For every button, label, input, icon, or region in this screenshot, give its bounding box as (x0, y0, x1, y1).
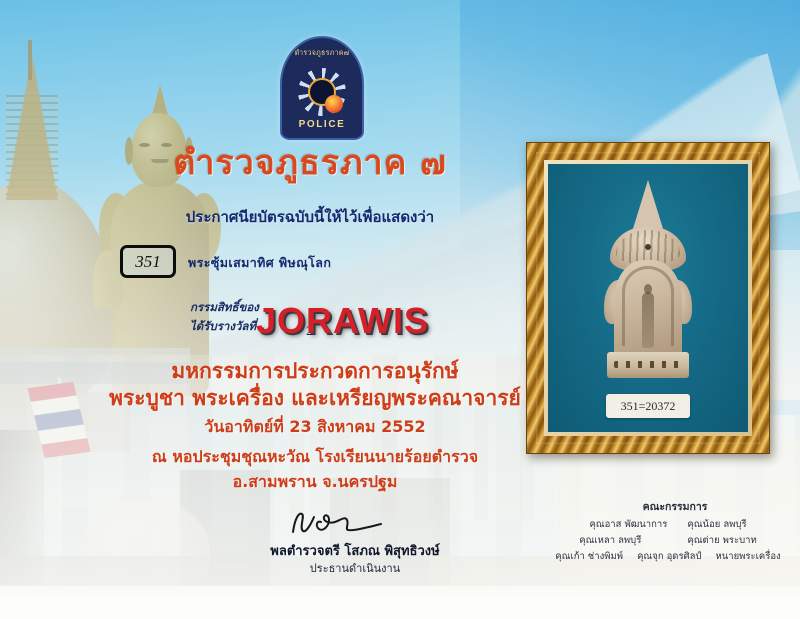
amulet-base-detail (614, 361, 682, 368)
event-date: วันอาทิตย์ที่ 23 สิงหาคม 2552 (110, 415, 520, 440)
amulet-name-label: พระซุ้มเสมาทิศ พิษณุโลก (188, 253, 331, 273)
signatory-role: ประธานดำเนินงาน (210, 559, 500, 577)
committee-name: หนายพระเครื่อง (716, 551, 781, 562)
committee-name: คุณเก้า ช่างพิมพ์ (555, 551, 623, 562)
committee-row: คุณเหลา ลพบุรี คุณต่าย พระบาท (538, 533, 798, 548)
certificate-subtitle: ประกาศนียบัตรฉบับนี้ให้ไว้เพื่อแสดงว่า (120, 205, 500, 229)
signatory-name: พลตำรวจตรี โสภณ พิสุทธิวงษ์ (210, 540, 500, 561)
amulet-center-dot (645, 244, 651, 250)
amulet-buddha-figure (642, 292, 654, 348)
frame-liner: 351=20372 (544, 160, 752, 436)
jorawis-watermark: JORAWIS (256, 300, 429, 342)
certificate-root: ตำรวจภูธรภาค๗ POLICE ตำรวจภูธรภาค ๗ ประก… (0, 0, 800, 619)
specimen-photo-frame: 351=20372 (526, 142, 770, 454)
event-title-line2: พระบูชา พระเครื่อง และเหรียญพระคณาจารย์ (92, 382, 538, 415)
badge-inner-ring (308, 78, 336, 106)
event-location: อ.สามพราน จ.นครปฐม (120, 470, 510, 495)
badge-crest-icon (325, 95, 343, 113)
badge-star-emblem (298, 68, 346, 116)
specimen-id-label: 351=20372 (606, 394, 690, 418)
specimen-photo: 351=20372 (548, 164, 748, 432)
signature-mark (285, 508, 395, 538)
committee-name: คุณเหลา ลพบุรี (579, 535, 641, 546)
committee-row: คุณอาส พัฒนาการ คุณน้อย ลพบุรี (538, 517, 798, 532)
badge-arc-text: ตำรวจภูธรภาค๗ (282, 48, 362, 60)
committee-row: คุณเก้า ช่างพิมพ์ คุณจุก อุดรศิลป์ หนายพ… (538, 549, 798, 564)
badge-police-label: POLICE (282, 119, 362, 130)
committee-name: คุณอาส พัฒนาการ (589, 519, 667, 530)
committee-name: คุณจุก อุดรศิลป์ (637, 551, 701, 562)
certificate-title: ตำรวจภูธรภาค ๗ (120, 135, 500, 189)
award-label: ได้รับรางวัลที่ (190, 318, 256, 336)
committee-name: คุณต่าย พระบาท (687, 535, 756, 546)
committee-title: คณะกรรมการ (600, 498, 750, 515)
event-venue: ณ หอประชุมชุณหะวัณ โรงเรียนนายร้อยตำรวจ (100, 445, 530, 470)
amulet-object (606, 180, 690, 380)
police-badge: ตำรวจภูธรภาค๗ POLICE (280, 36, 364, 140)
frame-bevel: 351=20372 (536, 152, 760, 444)
owner-label: กรรมสิทธิ์ของ (190, 299, 259, 317)
bottom-white-border (0, 598, 800, 619)
entry-number-box: 351 (120, 245, 176, 278)
committee-name: คุณน้อย ลพบุรี (687, 519, 746, 530)
